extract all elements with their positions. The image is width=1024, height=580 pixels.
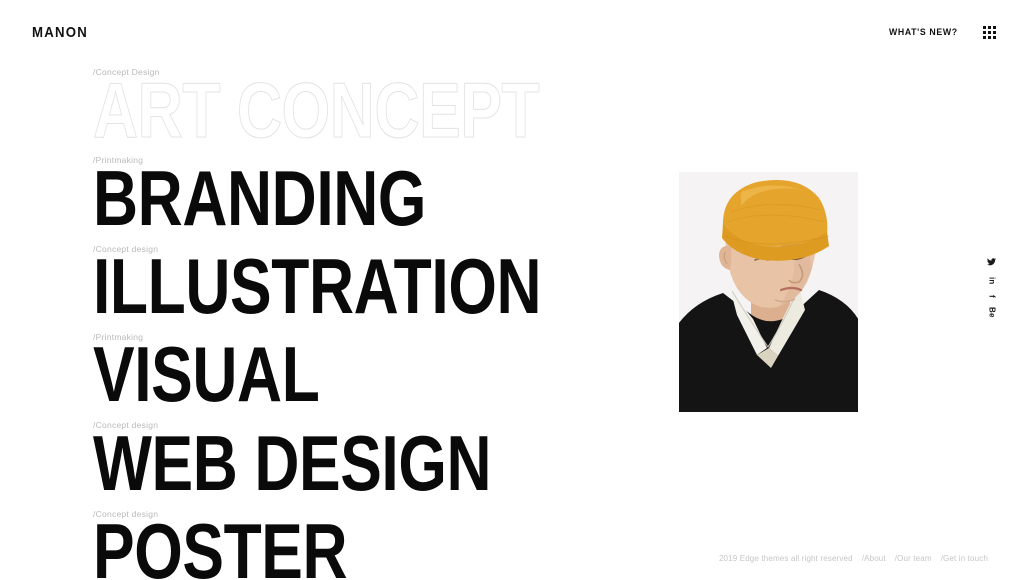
- grid-dot: [983, 26, 986, 29]
- linkedin-icon[interactable]: in: [988, 277, 996, 285]
- page-root: MANON WHAT'S NEW? /Concept Design ART CO…: [0, 0, 1024, 580]
- whats-new-link[interactable]: WHAT'S NEW?: [889, 27, 958, 38]
- grid-dot: [993, 31, 996, 34]
- grid-dot: [988, 26, 991, 29]
- header-nav-right: WHAT'S NEW?: [886, 26, 996, 39]
- headline-word[interactable]: ART CONCEPT: [93, 80, 573, 141]
- grid-dot: [993, 26, 996, 29]
- headline-word[interactable]: ILLUSTRATION: [93, 256, 573, 317]
- grid-3x3-icon[interactable]: [983, 26, 996, 39]
- behance-icon[interactable]: Be: [988, 307, 996, 318]
- grid-dot: [993, 36, 996, 39]
- headline-list: /Concept Design ART CONCEPT /Printmaking…: [93, 68, 693, 580]
- headline-item-branding[interactable]: /Printmaking BRANDING: [93, 156, 693, 228]
- site-footer: 2019 Edge themes all right reserved /Abo…: [719, 554, 988, 563]
- copyright-text: 2019 Edge themes all right reserved: [719, 554, 853, 563]
- facebook-icon[interactable]: f: [988, 295, 996, 298]
- twitter-icon[interactable]: [987, 258, 996, 267]
- portrait-illustration: [679, 172, 858, 412]
- headline-item-art-concept[interactable]: /Concept Design ART CONCEPT: [93, 68, 693, 140]
- headline-word[interactable]: BRANDING: [93, 168, 573, 229]
- footer-link-about[interactable]: /About: [862, 554, 886, 563]
- headline-item-poster[interactable]: /Concept design POSTER: [93, 510, 693, 580]
- headline-item-visual[interactable]: /Printmaking VISUAL: [93, 333, 693, 405]
- portrait-image[interactable]: [679, 172, 858, 412]
- headline-word[interactable]: WEB DESIGN: [93, 433, 573, 494]
- social-links: in f Be: [987, 258, 996, 318]
- grid-dot: [983, 31, 986, 34]
- headline-word[interactable]: VISUAL: [93, 344, 573, 405]
- grid-dot: [988, 36, 991, 39]
- headline-item-web-design[interactable]: /Concept design WEB DESIGN: [93, 421, 693, 493]
- grid-dot: [988, 31, 991, 34]
- headline-word[interactable]: POSTER: [93, 521, 573, 580]
- logo[interactable]: MANON: [32, 24, 88, 41]
- footer-link-our-team[interactable]: /Our team: [895, 554, 932, 563]
- site-header: MANON WHAT'S NEW?: [0, 0, 1024, 64]
- headline-item-illustration[interactable]: /Concept design ILLUSTRATION: [93, 245, 693, 317]
- grid-dot: [983, 36, 986, 39]
- footer-link-get-in-touch[interactable]: /Get in touch: [941, 554, 988, 563]
